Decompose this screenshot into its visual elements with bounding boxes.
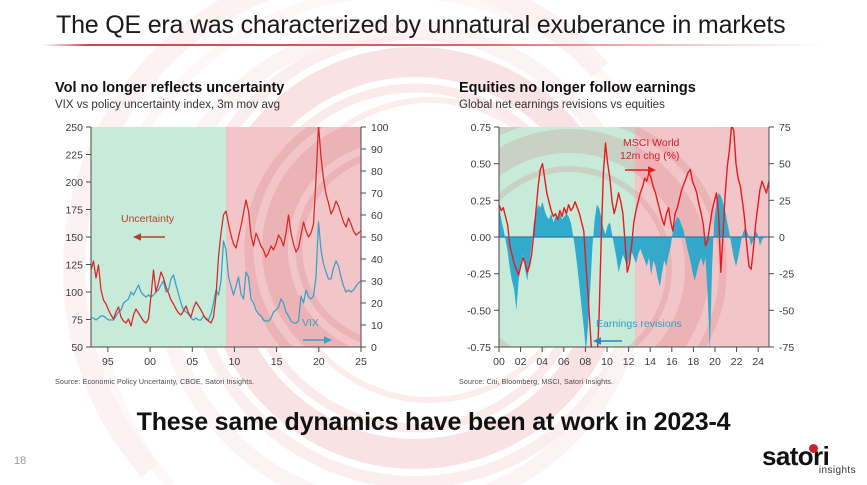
svg-text:14: 14	[644, 356, 656, 368]
svg-text:00: 00	[144, 356, 156, 368]
svg-text:-0.25: -0.25	[467, 269, 491, 281]
svg-text:100: 100	[371, 122, 389, 134]
svg-text:50: 50	[371, 232, 383, 244]
svg-text:0: 0	[779, 232, 785, 244]
svg-text:-25: -25	[779, 269, 794, 281]
svg-text:25: 25	[779, 195, 791, 207]
left-annotation-uncertainty-label: Uncertainty	[121, 213, 175, 225]
left-chart-area: Uncertainty VIX	[55, 119, 415, 374]
svg-text:60: 60	[371, 210, 383, 222]
left-chart-title: Vol no longer reflects uncertainty	[55, 80, 415, 97]
left-chart-yaxis-left: 50 75 100 125 150 175 200 225 250	[65, 122, 91, 354]
svg-text:40: 40	[371, 254, 383, 266]
svg-text:15: 15	[271, 356, 283, 368]
svg-text:24: 24	[752, 356, 764, 368]
right-chart-area: MSCI World 12m chg (%) Earnings revision…	[459, 119, 829, 374]
right-chart-subtitle: Global net earnings revisions vs equitie…	[459, 98, 829, 113]
right-annotation-earnings-label: Earnings revisions	[596, 318, 682, 330]
svg-text:150: 150	[65, 232, 83, 244]
svg-text:05: 05	[186, 356, 198, 368]
svg-text:75: 75	[71, 315, 83, 327]
svg-text:10: 10	[371, 320, 383, 332]
svg-text:30: 30	[371, 276, 383, 288]
svg-text:-0.75: -0.75	[467, 342, 491, 354]
left-annotation-vix-label: VIX	[302, 317, 319, 329]
left-chart-yaxis-right: 0 10 20 30 40 50 60 70 80 90 100	[361, 122, 389, 354]
svg-text:16: 16	[666, 356, 678, 368]
right-chart-source: Source: Citi, Bloomberg, MSCI, Satori In…	[459, 377, 829, 386]
svg-text:250: 250	[65, 122, 83, 134]
svg-text:0.00: 0.00	[471, 232, 492, 244]
slide-root: The QE era was characterized by unnatura…	[0, 0, 867, 485]
left-chart-svg: Uncertainty VIX	[55, 119, 415, 374]
right-annotation-msci-line2: 12m chg (%)	[620, 150, 680, 162]
right-chart-xaxis: 00 02 04 06 08 10 12 14 16 18 20 22 24	[493, 347, 764, 368]
left-chart-source: Source: Economic Policy Uncertainty, CBO…	[55, 377, 415, 386]
svg-text:-75: -75	[779, 342, 794, 354]
left-chart-xaxis: 95 00 05 10 15 20 25	[102, 347, 367, 368]
svg-text:100: 100	[65, 287, 83, 299]
right-chart-yaxis-right: -75 -50 -25 0 25 50 75	[769, 122, 794, 354]
svg-text:20: 20	[709, 356, 721, 368]
svg-text:75: 75	[779, 122, 791, 134]
svg-text:0.50: 0.50	[471, 159, 492, 171]
right-chart-title: Equities no longer follow earnings	[459, 80, 829, 97]
svg-text:175: 175	[65, 205, 83, 217]
svg-text:25: 25	[355, 356, 367, 368]
svg-text:06: 06	[558, 356, 570, 368]
slide-caption: These same dynamics have been at work in…	[0, 408, 867, 437]
right-chart-yaxis-left: -0.75 -0.50 -0.25 0.00 0.25 0.50 0.75	[467, 122, 499, 354]
svg-text:12: 12	[623, 356, 635, 368]
svg-text:0.25: 0.25	[471, 195, 492, 207]
svg-text:20: 20	[313, 356, 325, 368]
svg-text:08: 08	[580, 356, 592, 368]
svg-text:18: 18	[688, 356, 700, 368]
svg-text:02: 02	[515, 356, 527, 368]
page-title: The QE era was characterized by unnatura…	[0, 8, 867, 42]
page-number: 18	[14, 455, 26, 467]
svg-text:-50: -50	[779, 305, 794, 317]
right-annotation-msci-line1: MSCI World	[623, 137, 680, 149]
svg-text:80: 80	[371, 166, 383, 178]
brand-logo: satori insights	[762, 443, 858, 479]
svg-text:50: 50	[71, 342, 83, 354]
svg-text:0: 0	[371, 342, 377, 354]
chart-panel-left: Vol no longer reflects uncertainty VIX v…	[55, 80, 415, 386]
svg-text:125: 125	[65, 260, 83, 272]
right-chart-svg: MSCI World 12m chg (%) Earnings revision…	[459, 119, 829, 374]
svg-text:70: 70	[371, 188, 383, 200]
svg-text:10: 10	[229, 356, 241, 368]
left-chart-subtitle: VIX vs policy uncertainty index, 3m mov …	[55, 98, 415, 113]
svg-text:90: 90	[371, 144, 383, 156]
svg-text:-0.50: -0.50	[467, 305, 491, 317]
svg-text:0.75: 0.75	[471, 122, 492, 134]
svg-text:50: 50	[779, 159, 791, 171]
chart-panel-right: Equities no longer follow earnings Globa…	[459, 80, 829, 386]
svg-text:00: 00	[493, 356, 505, 368]
svg-text:20: 20	[371, 298, 383, 310]
svg-text:22: 22	[731, 356, 743, 368]
logo-dot-icon	[809, 444, 818, 453]
svg-text:04: 04	[536, 356, 548, 368]
title-underline-rule	[42, 44, 826, 46]
svg-text:200: 200	[65, 177, 83, 189]
svg-text:95: 95	[102, 356, 114, 368]
svg-text:10: 10	[601, 356, 613, 368]
title-block: The QE era was characterized by unnatura…	[0, 8, 867, 42]
svg-text:225: 225	[65, 150, 83, 162]
